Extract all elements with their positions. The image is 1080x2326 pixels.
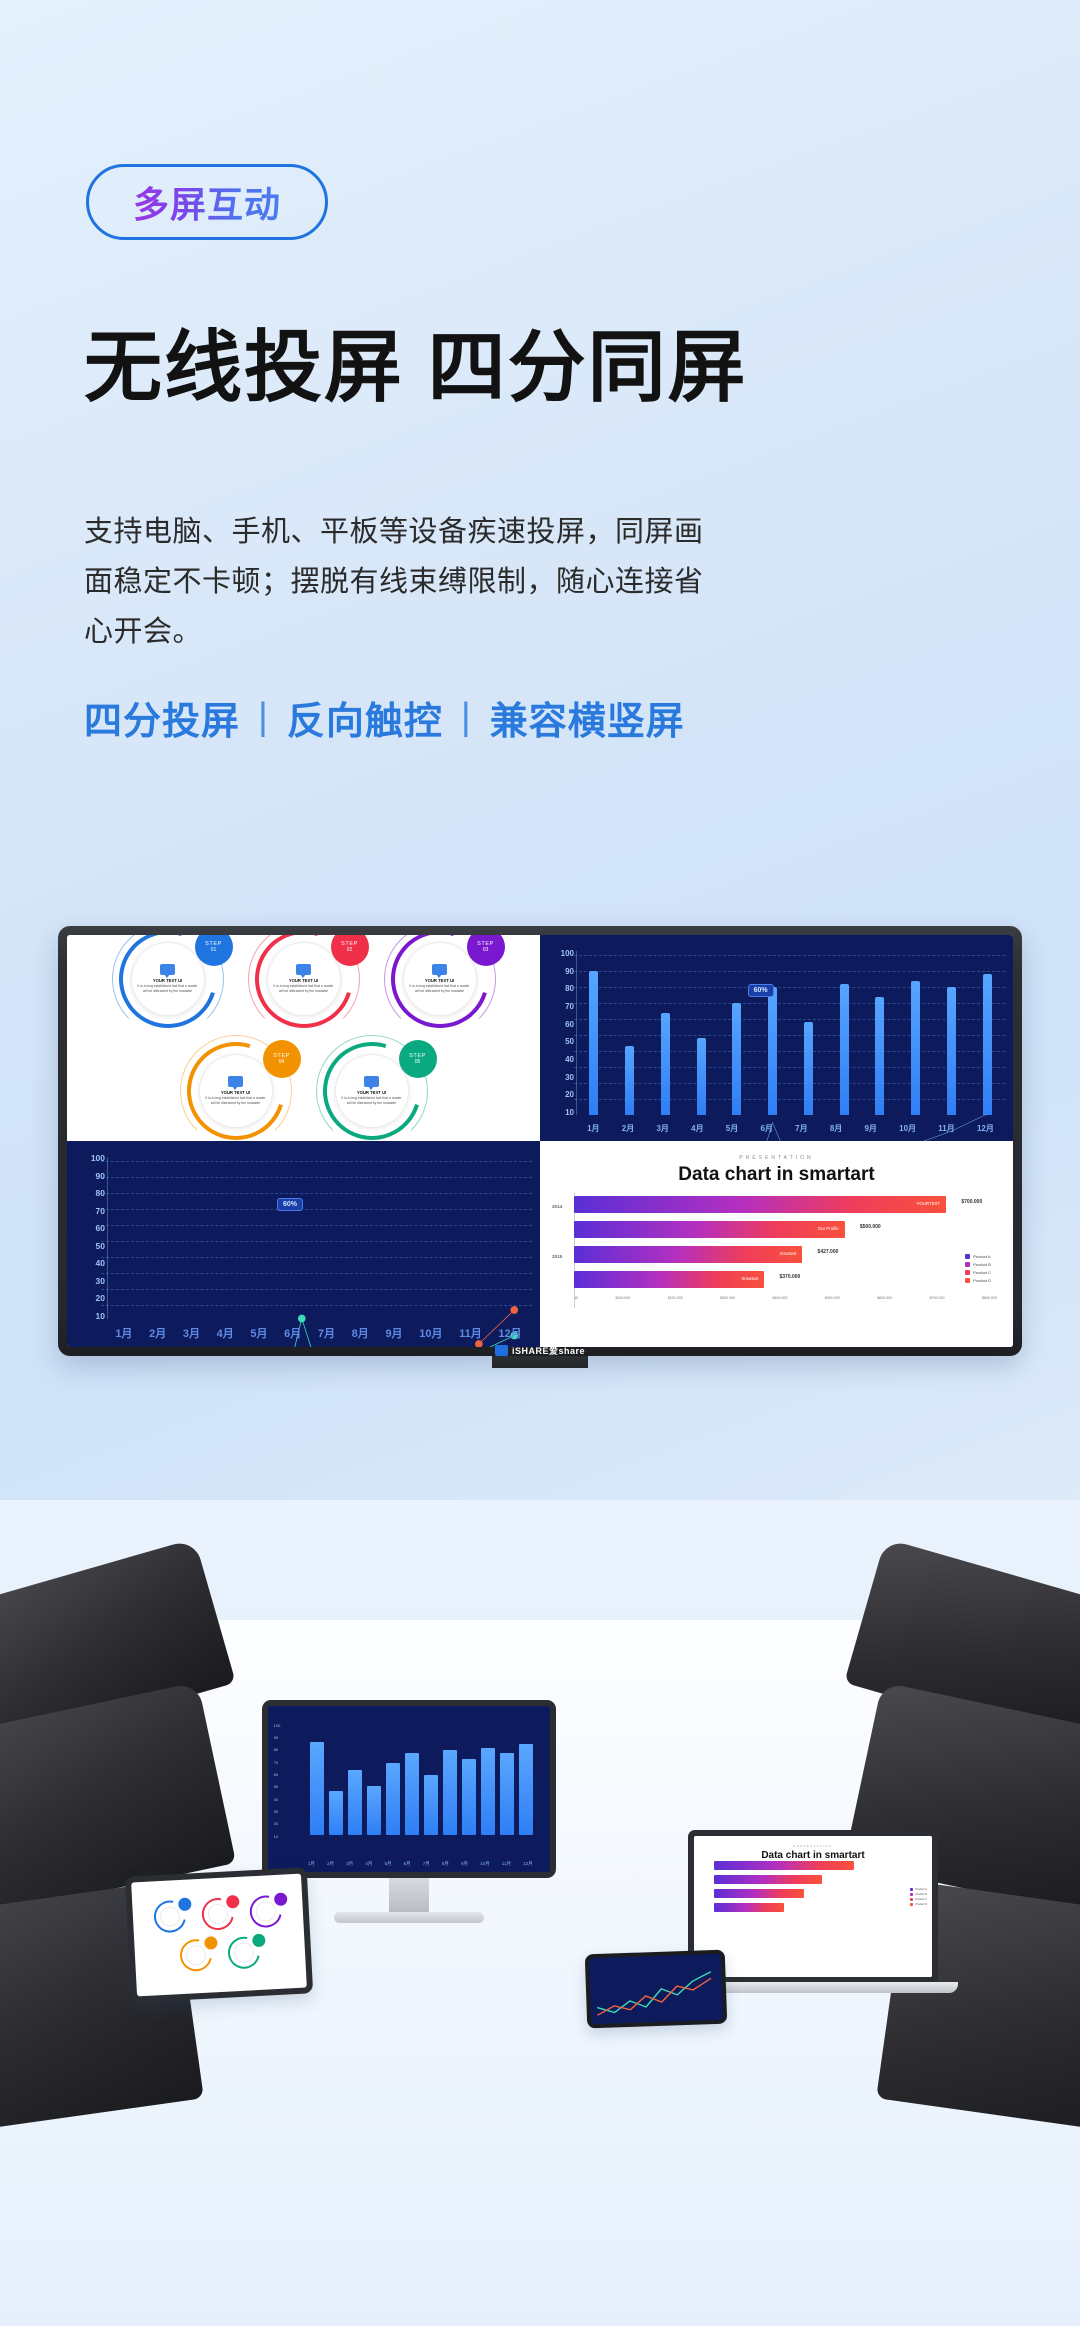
desktop-chart-bars	[307, 1729, 535, 1835]
smartart-bar-4: Smartart$370.000	[574, 1271, 764, 1288]
laptop-bar-3	[714, 1889, 804, 1898]
mini-y-tick: 30	[274, 1809, 281, 1814]
smartart-circle-04: YOUR TEXT UIIt is a long established fac…	[173, 1040, 299, 1141]
circle-step-badge: STEP05	[399, 1040, 437, 1078]
mini-bar-12月	[519, 1744, 533, 1835]
y-tick: 50	[96, 1241, 105, 1251]
mini-y-tick: 90	[274, 1735, 281, 1740]
laptop-bar-2	[714, 1875, 822, 1884]
tablet-circle-04	[173, 1936, 219, 1976]
quadrant-smartart-bar: PRESENTATION Data chart in smartart YOUR…	[540, 1141, 1013, 1347]
y-tick: 20	[565, 1090, 574, 1099]
mini-y-tick: 50	[274, 1784, 281, 1789]
circle-inner: YOUR TEXT UIIt is a long established fac…	[199, 1054, 273, 1128]
desktop-stand-neck	[389, 1878, 429, 1912]
feature-list: 四分投屏 | 反向触控 | 兼容横竖屏	[84, 690, 685, 745]
line-chart-x-axis: 1月2月3月4月5月6月7月8月9月10月11月12月	[107, 1323, 530, 1343]
smartart-circle-02: YOUR TEXT UIIt is a long established fac…	[241, 935, 367, 1036]
x-tick: 6月	[284, 1325, 301, 1341]
circle-step-badge	[226, 1895, 240, 1909]
step-number: 05	[415, 1059, 421, 1065]
step-number: 02	[347, 947, 353, 953]
circle-body: It is a long established fact that a rea…	[340, 1096, 404, 1106]
mini-x-tick: 2月	[327, 1861, 334, 1867]
tablet-circle-01	[147, 1897, 193, 1937]
circular-smartart-group: YOUR TEXT UIIt is a long established fac…	[67, 935, 540, 1141]
circle-body: It is a long established fact that a rea…	[204, 1096, 268, 1106]
meeting-room-scene: 100908070605040302010 1月2月3月4月5月6月7月8月9月…	[0, 1500, 1080, 2326]
x-tick: 3月	[656, 1123, 668, 1134]
bar-value: $427.000	[818, 1249, 839, 1255]
circle-title: YOUR TEXT UI	[221, 1090, 250, 1095]
tablet-circular-smartart	[131, 1874, 307, 1997]
mini-bar-11月	[500, 1753, 514, 1836]
y-tick: 20	[96, 1293, 105, 1303]
x-tick: 5月	[726, 1123, 738, 1134]
line-chart-series	[107, 1157, 532, 1347]
circle-step-badge	[204, 1936, 218, 1950]
legend-item-2: Product B	[965, 1262, 991, 1267]
bar-name: Our Profile	[818, 1226, 839, 1231]
laptop-legend-item-4: Product D	[910, 1903, 927, 1906]
message-icon	[432, 964, 447, 975]
x-tick: 8月	[830, 1123, 842, 1134]
mini-y-tick: 10	[274, 1834, 281, 1839]
mini-bar-10月	[481, 1748, 495, 1835]
badge-multi-screen: 多屏互动	[86, 164, 328, 240]
bar-chart-y-axis: 100908070605040302010	[544, 949, 574, 1117]
legend-swatch	[965, 1262, 970, 1267]
smartart-x-ticks: $0$100.000$200.000$300.000$400.000$500.0…	[574, 1296, 997, 1300]
circle-inner: YOUR TEXT UIIt is a long established fac…	[131, 942, 205, 1016]
y-tick: 30	[96, 1276, 105, 1286]
bar-name: Smartart	[780, 1251, 797, 1256]
bar-name: YOURTEXT	[916, 1201, 940, 1206]
x-tick: 2月	[149, 1325, 166, 1341]
mini-bar-5月	[386, 1763, 400, 1835]
mini-bar-1月	[310, 1742, 324, 1836]
bar-chart-annotation: 60%	[748, 984, 774, 997]
y-tick: 10	[565, 1108, 574, 1117]
device-phone	[585, 1950, 727, 2029]
bar-chart-x-axis: 1月2月3月4月5月6月7月8月9月10月11月12月	[576, 1119, 1005, 1137]
laptop-bar-1	[714, 1861, 854, 1870]
legend-item-3: Product C	[965, 1270, 991, 1275]
device-laptop: PRESENTATION Data chart in smartart Prod…	[688, 1830, 938, 1993]
mini-bar-9月	[462, 1759, 476, 1836]
circle-body: It is a long established fact that a rea…	[136, 984, 200, 994]
laptop-bar-4	[714, 1903, 784, 1912]
laptop-screen: PRESENTATION Data chart in smartart Prod…	[694, 1836, 932, 1977]
quadrant-line-chart: 100908070605040302010 60% 1月2月3月4月5月6月7月…	[67, 1141, 540, 1347]
legend-label: Product D	[973, 1278, 991, 1283]
smartart-y-label: 2014	[552, 1204, 562, 1209]
laptop-lid: PRESENTATION Data chart in smartart Prod…	[688, 1830, 938, 1982]
laptop-legend-item-1: Product A	[910, 1888, 927, 1891]
monitor-hero: YOUR TEXT UIIt is a long established fac…	[58, 926, 1022, 1356]
quadrant-circular-smartart: YOUR TEXT UIIt is a long established fac…	[67, 935, 540, 1141]
circle-body: It is a long established fact that a rea…	[272, 984, 336, 994]
legend-label: Product C	[973, 1270, 991, 1275]
mini-x-tick: 10月	[480, 1861, 490, 1867]
message-icon	[228, 1076, 243, 1087]
mini-x-tick: 1月	[308, 1861, 315, 1867]
desktop-screen: 100908070605040302010 1月2月3月4月5月6月7月8月9月…	[268, 1706, 550, 1872]
mini-x-tick: 5月	[384, 1861, 391, 1867]
badge-label: 多屏互动	[133, 176, 281, 228]
y-tick: 40	[565, 1055, 574, 1064]
mini-bar-4月	[367, 1786, 381, 1836]
desktop-chart-x-axis: 1月2月3月4月5月6月7月8月9月10月11月12月	[302, 1861, 539, 1867]
mini-bar-8月	[443, 1750, 457, 1835]
feature-item-1: 四分投屏	[84, 690, 240, 745]
desktop-stand-base	[334, 1912, 484, 1923]
x-tick: 12月	[977, 1123, 994, 1134]
desktop-bezel: 100908070605040302010 1月2月3月4月5月6月7月8月9月…	[262, 1700, 556, 1878]
y-tick: 90	[565, 967, 574, 976]
smartart-x-tick: $600.000	[877, 1296, 892, 1300]
y-tick: 60	[96, 1223, 105, 1233]
legend-label: Product D	[915, 1903, 927, 1906]
x-tick: 1月	[115, 1325, 132, 1341]
feature-separator-2: |	[461, 696, 472, 739]
x-tick: 1月	[587, 1123, 599, 1134]
smartart-bar-1: YOURTEXT$700.000	[574, 1196, 946, 1213]
y-tick: 90	[96, 1171, 105, 1181]
monitor-stand	[492, 1356, 588, 1368]
line-chart-plot: 60%	[107, 1157, 532, 1319]
bar-chart-plot: 60%	[576, 951, 1005, 1115]
legend-label: Product C	[915, 1898, 927, 1901]
y-tick: 80	[565, 984, 574, 993]
smartart-circle-01: YOUR TEXT UIIt is a long established fac…	[105, 935, 231, 1036]
legend-label: Product B	[973, 1262, 991, 1267]
mini-bar-7月	[424, 1775, 438, 1836]
mini-y-tick: 70	[274, 1760, 281, 1765]
mini-x-tick: 3月	[346, 1861, 353, 1867]
step-number: 01	[211, 947, 217, 953]
bar-name: Smartart	[742, 1276, 759, 1281]
legend-swatch	[910, 1893, 913, 1896]
smartart-x-tick: $100.000	[615, 1296, 630, 1300]
mini-y-tick: 60	[274, 1772, 281, 1777]
x-tick: 10月	[899, 1123, 916, 1134]
smartart-x-tick: $300.000	[720, 1296, 735, 1300]
x-tick: 4月	[217, 1325, 234, 1341]
x-tick: 6月	[760, 1123, 772, 1134]
legend-swatch	[910, 1898, 913, 1901]
smartart-circle-05: YOUR TEXT UIIt is a long established fac…	[309, 1040, 435, 1141]
smartart-bars: YOURTEXT$700.000Our Profile$500.000Smart…	[574, 1196, 997, 1288]
x-tick: 12月	[498, 1325, 521, 1341]
x-tick: 7月	[318, 1325, 335, 1341]
smartart-chart: YOURTEXT$700.000Our Profile$500.000Smart…	[574, 1196, 997, 1316]
laptop-kicker: PRESENTATION	[700, 1845, 926, 1848]
smartart-bar-3: Smartart$427.000	[574, 1246, 802, 1263]
step-number: 03	[483, 947, 489, 953]
message-icon	[160, 964, 175, 975]
y-tick: 40	[96, 1258, 105, 1268]
circle-step-badge	[178, 1897, 192, 1911]
laptop-legend-item-3: Product C	[910, 1898, 927, 1901]
desktop-chart-y-axis: 100908070605040302010	[274, 1723, 281, 1839]
bar-value: $500.000	[860, 1224, 881, 1230]
mini-x-tick: 8月	[442, 1861, 449, 1867]
laptop-title: Data chart in smartart	[700, 1850, 926, 1861]
mini-y-tick: 40	[274, 1797, 281, 1802]
smartart-circle-03: YOUR TEXT UIIt is a long established fac…	[377, 935, 503, 1036]
page-description: 支持电脑、手机、平板等设备疾速投屏，同屏画面稳定不卡顿；摆脱有线束缚限制，随心连…	[84, 508, 704, 658]
y-tick: 70	[96, 1206, 105, 1216]
circle-inner: YOUR TEXT UIIt is a long established fac…	[403, 942, 477, 1016]
legend-swatch	[965, 1278, 970, 1283]
tablet-circle-02	[195, 1895, 241, 1935]
y-tick: 70	[565, 1002, 574, 1011]
feature-item-2: 反向触控	[287, 690, 443, 745]
mini-y-tick: 80	[274, 1747, 281, 1752]
legend-item-4: Product D	[965, 1278, 991, 1283]
smartart-x-tick: $400.000	[773, 1296, 788, 1300]
smartart-x-tick: $200.000	[668, 1296, 683, 1300]
smartart-title: Data chart in smartart	[550, 1164, 1003, 1186]
laptop-legend-item-2: Product B	[910, 1893, 927, 1896]
mini-bar-6月	[405, 1753, 419, 1836]
x-tick: 10月	[419, 1325, 442, 1341]
device-tablet	[125, 1867, 313, 2002]
y-tick: 30	[565, 1073, 574, 1082]
y-tick: 100	[561, 949, 574, 958]
circle-step-badge	[274, 1892, 288, 1906]
circle-step-badge	[252, 1934, 266, 1948]
y-tick: 80	[96, 1188, 105, 1198]
mini-x-tick: 12月	[523, 1861, 533, 1867]
step-number: 04	[279, 1059, 285, 1065]
mini-x-tick: 9月	[461, 1861, 468, 1867]
smartart-y-label: 2015	[552, 1254, 562, 1259]
circle-title: YOUR TEXT UI	[153, 978, 182, 983]
line-chart-annotation: 60%	[277, 1198, 303, 1211]
legend-swatch	[910, 1903, 913, 1906]
smartart-x-tick: $800.000	[982, 1296, 997, 1300]
circle-title: YOUR TEXT UI	[357, 1090, 386, 1095]
mini-bar-2月	[329, 1791, 343, 1836]
legend-label: Product A	[973, 1254, 990, 1259]
phone-screen	[589, 1954, 723, 2025]
message-icon	[296, 964, 311, 975]
x-tick: 5月	[250, 1325, 267, 1341]
mini-x-tick: 6月	[404, 1861, 411, 1867]
laptop-smartart: PRESENTATION Data chart in smartart Prod…	[694, 1836, 932, 1977]
smartart-bar-2: Our Profile$500.000	[574, 1221, 845, 1238]
x-tick: 11月	[459, 1325, 482, 1341]
x-tick: 9月	[864, 1123, 876, 1134]
quadrant-bar-chart: 100908070605040302010 60% 1月2月3月4月5月6月7月…	[540, 935, 1013, 1141]
y-tick: 10	[96, 1311, 105, 1321]
circle-body: It is a long established fact that a rea…	[408, 984, 472, 994]
bar-chart-overlay-line	[576, 951, 1005, 1141]
tablet-screen	[131, 1874, 307, 1997]
message-icon	[364, 1076, 379, 1087]
mini-x-tick: 4月	[365, 1861, 372, 1867]
mini-y-tick: 100	[274, 1723, 281, 1728]
x-tick: 2月	[622, 1123, 634, 1134]
x-tick: 3月	[183, 1325, 200, 1341]
mini-x-tick: 11月	[502, 1861, 511, 1867]
x-tick: 4月	[691, 1123, 703, 1134]
y-tick: 60	[565, 1020, 574, 1029]
x-tick: 9月	[385, 1325, 402, 1341]
legend-swatch	[910, 1888, 913, 1891]
circle-step-badge: STEP04	[263, 1040, 301, 1078]
mini-x-tick: 7月	[423, 1861, 430, 1867]
line-chart-y-axis: 100908070605040302010	[71, 1153, 105, 1321]
legend-swatch	[965, 1270, 970, 1275]
legend-label: Product B	[915, 1893, 926, 1896]
smartart-legend: Product AProduct BProduct CProduct D	[965, 1254, 991, 1286]
legend-item-1: Product A	[965, 1254, 991, 1259]
smartart-x-tick: $700.000	[930, 1296, 945, 1300]
legend-label: Product A	[915, 1888, 926, 1891]
y-tick: 100	[91, 1153, 105, 1163]
tablet-circle-03	[243, 1892, 289, 1932]
tablet-circle-05	[221, 1934, 267, 1974]
smartart-x-tick: $500.000	[825, 1296, 840, 1300]
monitor-bezel: YOUR TEXT UIIt is a long established fac…	[58, 926, 1022, 1356]
mini-bar-3月	[348, 1770, 362, 1836]
y-tick: 50	[565, 1037, 574, 1046]
circle-inner: YOUR TEXT UIIt is a long established fac…	[267, 942, 341, 1016]
circle-title: YOUR TEXT UI	[289, 978, 318, 983]
x-tick: 7月	[795, 1123, 807, 1134]
page-title: 无线投屏 四分同屏	[84, 325, 748, 409]
feature-separator-1: |	[258, 696, 269, 739]
brand-mark-icon	[495, 1345, 508, 1356]
x-tick: 8月	[352, 1325, 369, 1341]
x-tick: 11月	[938, 1123, 954, 1134]
bar-value: $370.000	[779, 1274, 800, 1280]
bar-value: $700.000	[961, 1199, 982, 1205]
smartart-kicker: PRESENTATION	[550, 1155, 1003, 1161]
legend-swatch	[965, 1254, 970, 1259]
monitor-screen: YOUR TEXT UIIt is a long established fac…	[67, 935, 1013, 1347]
circle-inner: YOUR TEXT UIIt is a long established fac…	[335, 1054, 409, 1128]
circle-title: YOUR TEXT UI	[425, 978, 454, 983]
laptop-legend: Product AProduct BProduct CProduct D	[910, 1888, 927, 1908]
mini-y-tick: 20	[274, 1821, 281, 1826]
phone-line-chart	[589, 1954, 723, 2025]
feature-item-3: 兼容横竖屏	[490, 690, 685, 745]
